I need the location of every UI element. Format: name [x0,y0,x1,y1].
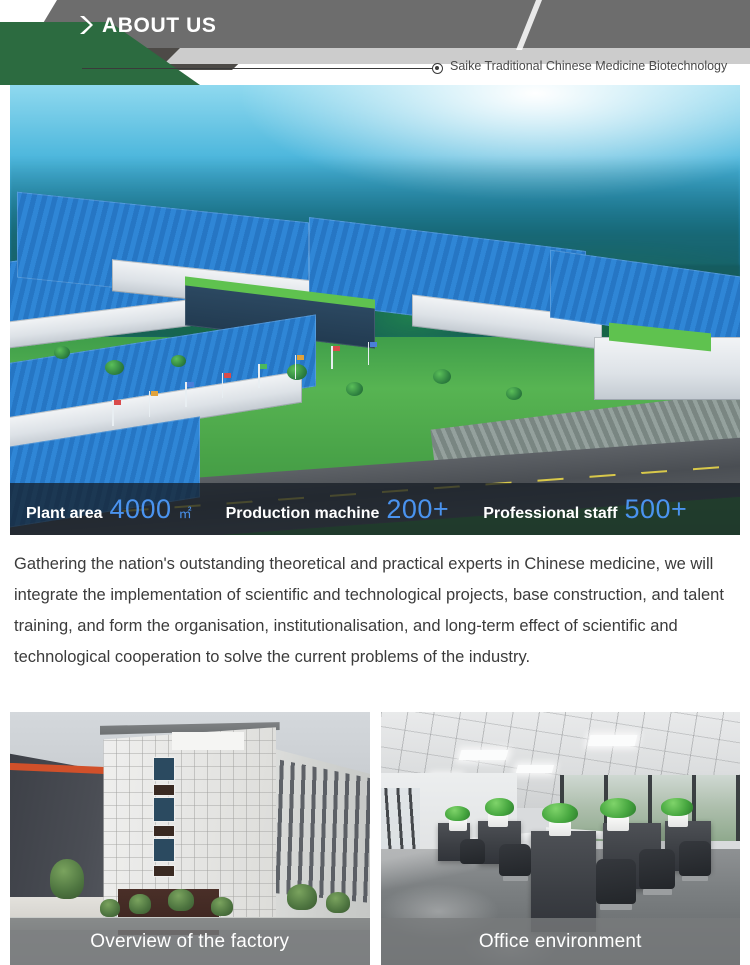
plant-pot [549,821,571,836]
tree [105,360,124,375]
office-chair [460,839,485,864]
facade-window [154,866,174,876]
stat-value: 200+ [386,494,449,525]
photo-card-factory-overview: Overview of the factory [10,712,370,965]
plant [485,798,514,816]
chevron-right-icon [78,14,94,36]
stat-label: Plant area [26,505,102,523]
ceiling-light-panel [458,750,508,760]
stat-item: Plant area 4000 ㎡ [26,494,192,525]
plant [445,806,470,821]
tree [54,346,70,359]
flag [151,391,158,396]
facade-window [154,826,174,836]
chair-base [600,904,632,910]
page-title: ABOUT US [102,15,216,36]
office-chair [679,841,711,876]
tree [346,382,363,396]
shrub [326,892,350,913]
header-subtitle-row: Saike Traditional Chinese Medicine Biote… [0,54,750,85]
office-chair [639,849,675,889]
tree [433,369,451,384]
plant [542,803,578,823]
stat-item: Professional staff 500+ [483,494,687,525]
chair-base [643,889,672,895]
stats-bar: Plant area 4000 ㎡ Production machine 200… [10,483,740,535]
facade-window [154,758,174,781]
top-window [172,732,244,750]
shrub [211,897,233,916]
photo-caption: Overview of the factory [10,918,370,965]
flag [224,373,231,378]
flag [187,382,194,387]
flag [114,400,121,405]
wing-window-rows [269,758,370,905]
shrub [168,889,194,911]
stat-item: Production machine 200+ [226,494,450,525]
page-title-group: ABOUT US [78,0,216,50]
flag [297,355,304,360]
stat-value: 500+ [624,494,687,525]
cubicle-divider [531,831,596,932]
photo-card-office-environment: Office environment [381,712,741,965]
about-description: Gathering the nation's outstanding theor… [14,549,732,673]
stat-label: Professional staff [483,505,617,523]
plant [661,798,693,816]
stat-value: 4000 [109,494,171,525]
tree [171,355,186,367]
office-chair [499,844,531,877]
facade-window [154,839,174,862]
shrub [287,884,317,910]
photo-grid: Overview of the factory [10,712,740,965]
shrub [129,894,151,914]
stat-unit: ㎡ [179,503,192,522]
office-chair [596,859,636,905]
tree [506,387,522,400]
ceiling-light-panel [516,765,554,773]
company-subtitle: Saike Traditional Chinese Medicine Biote… [450,59,727,73]
page-header: ABOUT US Saike Traditional Chinese Medic… [0,0,750,85]
facade-window [154,798,174,821]
chair-base [682,876,707,881]
subtitle-rule-line [82,68,432,69]
tree [50,859,84,899]
plant [600,798,636,818]
flag [260,364,267,369]
facade-window [154,785,174,795]
factory-aerial-image: Plant area 4000 ㎡ Production machine 200… [10,85,740,535]
target-bullet-icon [432,63,443,74]
photo-caption: Office environment [381,918,741,965]
shrub [100,899,120,917]
chair-base [503,876,528,881]
flag [370,342,377,347]
ceiling-light-panel [588,735,638,746]
flag [333,346,340,351]
stat-label: Production machine [226,505,380,523]
